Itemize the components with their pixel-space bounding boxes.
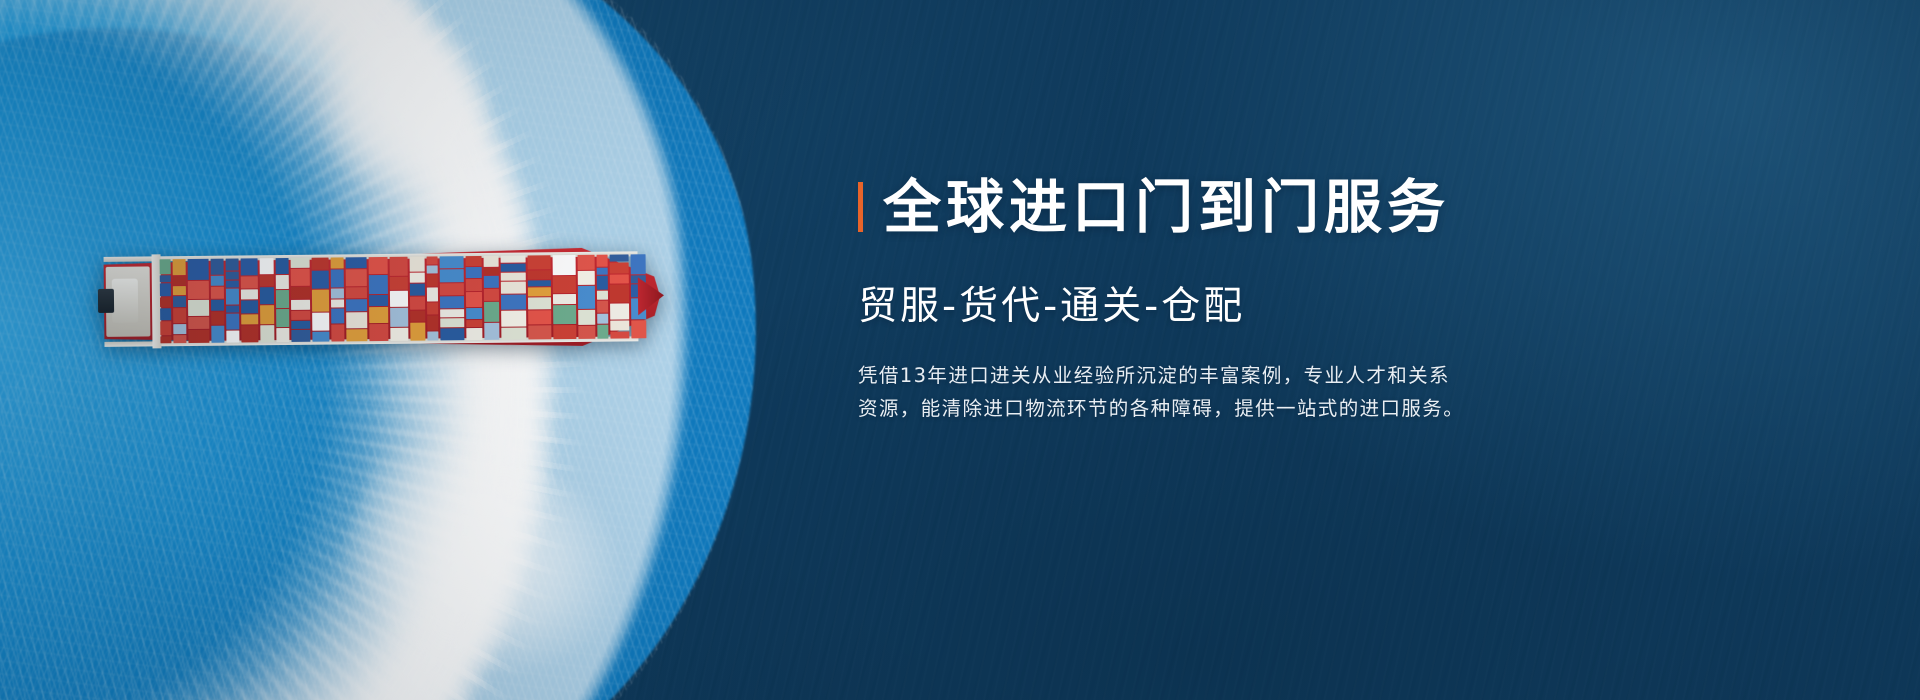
shipping-container <box>211 326 225 343</box>
container-bay <box>311 258 329 342</box>
container-ship <box>104 247 661 351</box>
shipping-container <box>211 300 225 311</box>
container-bay <box>596 255 608 339</box>
shipping-container <box>241 315 258 325</box>
shipping-container <box>631 321 647 339</box>
shipping-container <box>260 275 274 286</box>
shipping-container <box>528 287 551 297</box>
shipping-container <box>390 307 408 327</box>
shipping-container <box>528 270 551 279</box>
shipping-container <box>440 309 464 317</box>
container-bay <box>241 258 259 342</box>
shipping-container <box>211 312 225 325</box>
shipping-container <box>160 321 171 335</box>
shipping-container <box>331 325 344 342</box>
shipping-container <box>277 328 289 342</box>
shipping-container <box>466 328 482 340</box>
shipping-container <box>630 254 646 274</box>
shipping-container <box>440 283 464 296</box>
container-bay <box>527 255 551 339</box>
shipping-container <box>440 328 464 341</box>
shipping-container <box>160 283 171 297</box>
shipping-container <box>173 276 186 285</box>
description-line-1: 凭借13年进口进关从业经验所沉淀的丰富案例，专业人才和关系 <box>858 359 1570 393</box>
shipping-container <box>188 280 209 298</box>
shipping-container <box>410 283 425 295</box>
shipping-container <box>331 308 344 324</box>
container-bay <box>276 258 289 342</box>
shipping-container <box>578 285 595 308</box>
container-bay <box>173 259 187 343</box>
shipping-container <box>173 296 186 307</box>
shipping-container <box>311 258 328 270</box>
shipping-container <box>465 256 481 266</box>
ship-funnel <box>98 289 114 313</box>
shipping-container <box>611 320 629 331</box>
shipping-container <box>411 323 426 341</box>
shipping-container <box>578 255 595 270</box>
shipping-container <box>261 326 275 343</box>
shipping-container <box>276 275 288 290</box>
banner-content: 全球进口门到门服务 贸服-货代-通关-仓配 凭借13年进口进关从业经验所沉淀的丰… <box>858 178 1678 426</box>
shipping-container <box>260 305 274 325</box>
shipping-container <box>597 300 609 313</box>
page-title: 全球进口门到门服务 <box>883 178 1450 236</box>
shipping-container <box>553 294 577 305</box>
shipping-container <box>502 327 527 340</box>
container-bay <box>553 255 577 339</box>
shipping-container <box>427 288 438 302</box>
shipping-container <box>501 273 526 281</box>
shipping-container <box>427 274 438 287</box>
shipping-container <box>578 271 595 285</box>
shipping-container <box>160 275 171 282</box>
shipping-container <box>553 276 577 293</box>
shipping-container <box>501 263 526 272</box>
shipping-container <box>466 308 482 319</box>
shipping-container <box>410 311 425 322</box>
shipping-container <box>528 297 551 310</box>
shipping-container <box>241 258 258 275</box>
shipping-container <box>368 275 388 294</box>
shipping-container <box>369 295 389 306</box>
shipping-container <box>312 312 329 331</box>
shipping-container <box>226 272 239 279</box>
shipping-container <box>440 256 464 268</box>
shipping-container <box>227 330 240 342</box>
shipping-container <box>210 276 224 286</box>
shipping-container <box>290 269 309 286</box>
shipping-container <box>484 322 499 339</box>
shipping-container <box>241 300 258 314</box>
shipping-container <box>331 288 344 299</box>
shipping-container <box>596 255 608 267</box>
shipping-container <box>346 312 367 328</box>
container-bay <box>188 259 209 343</box>
shipping-container <box>610 285 628 303</box>
container-bay <box>210 259 225 343</box>
shipping-container <box>501 255 526 262</box>
shipping-container <box>173 324 186 334</box>
shipping-container <box>466 292 483 307</box>
shipping-container <box>501 282 526 294</box>
shipping-container <box>502 310 527 326</box>
shipping-container <box>312 331 329 341</box>
shipping-container <box>331 270 344 288</box>
shipping-container <box>160 297 171 307</box>
shipping-container <box>260 287 274 304</box>
shipping-container <box>276 290 288 308</box>
shipping-container <box>484 288 499 301</box>
shipping-container <box>226 305 239 312</box>
hero-banner: 全球进口门到门服务 贸服-货代-通关-仓配 凭借13年进口进关从业经验所沉淀的丰… <box>0 0 1920 700</box>
shipping-container <box>553 255 577 275</box>
shipping-container <box>597 325 609 339</box>
banner-subtitle: 贸服-货代-通关-仓配 <box>858 286 1678 329</box>
shipping-container <box>277 309 289 327</box>
shipping-container <box>346 269 367 286</box>
shipping-container <box>369 323 389 341</box>
shipping-container <box>311 289 329 311</box>
shipping-container <box>241 325 258 342</box>
shipping-container <box>291 321 310 329</box>
container-bay <box>330 257 344 341</box>
shipping-container <box>330 257 343 268</box>
shipping-container <box>501 294 526 309</box>
shipping-container <box>553 305 577 324</box>
shipping-container <box>189 330 210 343</box>
shipping-container <box>484 276 499 288</box>
shipping-container <box>160 259 171 274</box>
shipping-container <box>346 299 367 312</box>
shipping-container <box>311 271 328 289</box>
container-bay <box>390 257 409 341</box>
shipping-container <box>346 287 367 298</box>
shipping-container <box>528 311 551 325</box>
shipping-container <box>291 329 310 342</box>
shipping-container <box>160 336 171 343</box>
shipping-container <box>484 268 499 275</box>
shipping-container <box>291 310 310 320</box>
shipping-container <box>188 300 209 317</box>
shipping-container <box>610 303 628 319</box>
banner-description: 凭借13年进口进关从业经验所沉淀的丰富案例，专业人才和关系 资源，能清除进口物流… <box>858 359 1570 426</box>
shipping-container <box>410 257 425 272</box>
shipping-container <box>579 309 596 325</box>
shipping-container <box>611 332 629 339</box>
shipping-container <box>484 256 499 267</box>
container-bay <box>346 257 368 341</box>
container-bay <box>578 255 595 339</box>
shipping-container <box>440 318 464 327</box>
container-bay <box>484 256 500 340</box>
shipping-container <box>173 308 186 323</box>
shipping-container <box>527 255 550 269</box>
shipping-container <box>173 259 186 276</box>
shipping-container <box>410 296 425 310</box>
container-bay <box>368 257 388 341</box>
shipping-container <box>241 289 258 299</box>
shipping-container <box>597 268 608 275</box>
shipping-container <box>528 280 551 286</box>
shipping-container <box>188 317 208 329</box>
shipping-container <box>290 287 309 299</box>
shipping-container <box>579 326 596 339</box>
shipping-container <box>369 307 389 323</box>
shipping-container <box>466 267 482 278</box>
shipping-container <box>346 329 367 342</box>
shipping-container <box>528 325 551 339</box>
shipping-container <box>260 258 274 274</box>
shipping-container <box>610 254 628 261</box>
container-stacks <box>160 254 647 343</box>
shipping-container <box>597 290 608 299</box>
container-bay <box>226 258 240 342</box>
shipping-container <box>241 276 258 288</box>
container-bay <box>610 254 629 338</box>
container-bay <box>290 258 310 342</box>
shipping-container <box>553 325 577 339</box>
accent-bar <box>858 182 863 232</box>
shipping-container <box>391 328 409 341</box>
description-line-2: 资源，能清除进口物流环节的各种障碍，提供一站式的进口服务。 <box>858 392 1570 426</box>
shipping-container <box>427 316 438 331</box>
shipping-container <box>226 313 239 329</box>
shipping-container <box>173 286 186 295</box>
container-bay <box>440 256 465 340</box>
shipping-container <box>276 258 288 274</box>
shipping-container <box>390 291 408 307</box>
shipping-container <box>610 263 628 274</box>
shipping-container <box>427 302 438 314</box>
container-bay <box>426 256 438 340</box>
container-bay <box>501 255 526 339</box>
shipping-container <box>226 280 239 287</box>
shipping-container <box>426 256 437 264</box>
shipping-container <box>610 275 628 284</box>
ship-bridge <box>112 279 138 323</box>
container-bay <box>260 258 275 342</box>
shipping-container <box>290 258 309 268</box>
shipping-container <box>226 288 239 304</box>
shipping-container <box>210 286 224 299</box>
shipping-container <box>226 258 239 271</box>
shipping-container <box>597 275 609 289</box>
shipping-container <box>160 308 171 320</box>
shipping-container <box>331 300 344 308</box>
shipping-container <box>427 265 438 273</box>
shipping-container <box>484 302 499 322</box>
shipping-container <box>390 257 408 276</box>
shipping-container <box>291 299 310 309</box>
shipping-container <box>427 331 438 340</box>
title-row: 全球进口门到门服务 <box>858 178 1678 236</box>
container-bay <box>160 259 172 343</box>
shipping-container <box>597 314 608 324</box>
shipping-container <box>440 269 464 282</box>
shipping-container <box>466 320 482 327</box>
shipping-container <box>188 259 209 280</box>
shipping-container <box>173 335 186 343</box>
shipping-container <box>440 297 464 309</box>
shipping-container <box>210 259 224 275</box>
container-bay <box>465 256 482 340</box>
container-bay <box>410 257 426 341</box>
shipping-container <box>410 272 425 282</box>
shipping-container <box>390 277 408 290</box>
shipping-container <box>466 279 482 291</box>
shipping-container <box>346 257 367 268</box>
shipping-container <box>368 257 388 275</box>
